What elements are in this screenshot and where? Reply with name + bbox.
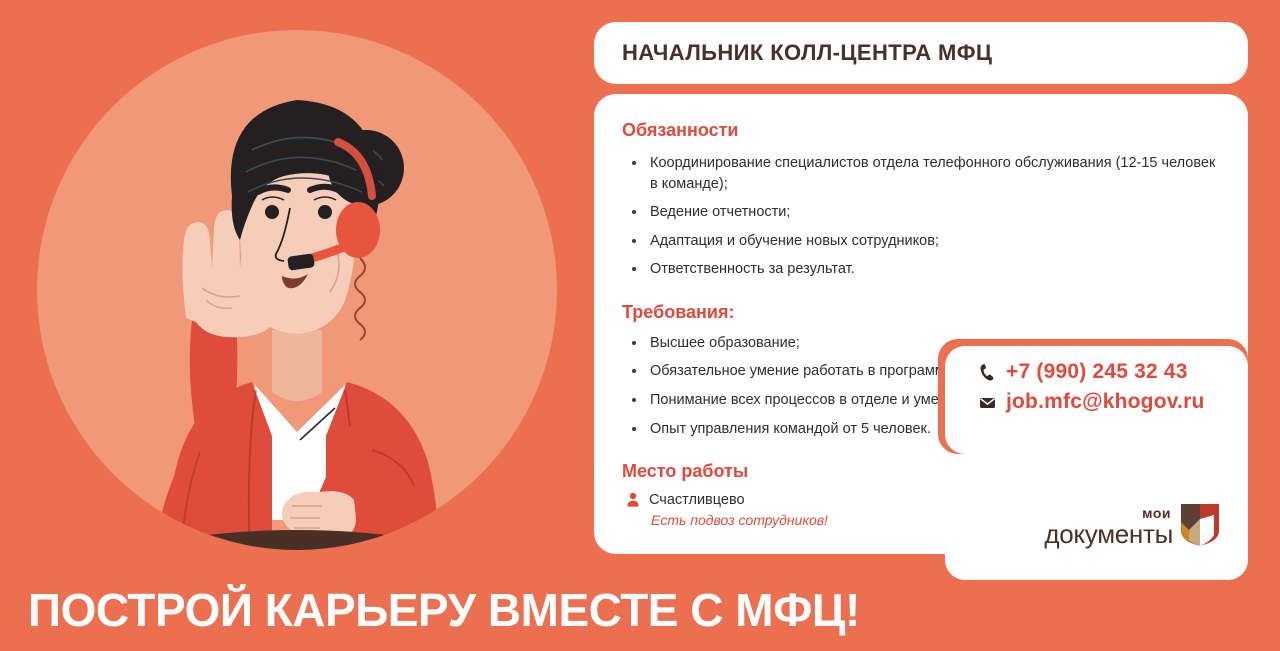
- envelope-icon: [979, 393, 996, 412]
- email-address: job.mfc@khogov.ru: [1006, 390, 1205, 414]
- list-item: Ведение отчетности;: [622, 202, 1218, 223]
- phone-icon: [979, 363, 996, 382]
- responsibilities-heading: Обязанности: [622, 120, 1218, 141]
- responsibilities-list: Координирование специалистов отдела теле…: [622, 153, 1218, 280]
- list-item: Координирование специалистов отдела теле…: [622, 153, 1218, 194]
- logo-line-top: мои: [1142, 506, 1171, 520]
- job-title-card: НАЧАЛЬНИК КОЛЛ-ЦЕНТРА МФЦ: [594, 22, 1248, 84]
- logo-wordmark: мои документы: [1044, 506, 1173, 547]
- location-name: Счастливцево: [649, 492, 745, 508]
- mfc-logo: мои документы: [1044, 503, 1220, 547]
- bottom-banner: ПОСТРОЙ КАРЬЕРУ ВМЕСТЕ С МФЦ!: [0, 569, 594, 651]
- requirements-heading: Требования:: [622, 302, 1218, 323]
- list-item: Ответственность за результат.: [622, 259, 1218, 280]
- logo-line-bottom: документы: [1044, 521, 1173, 547]
- list-item: Адаптация и обучение новых сотрудников;: [622, 231, 1218, 252]
- email-row[interactable]: job.mfc@khogov.ru: [979, 390, 1248, 414]
- content-column: НАЧАЛЬНИК КОЛЛ-ЦЕНТРА МФЦ Обязанности Ко…: [594, 0, 1280, 651]
- logo-card: мои документы: [945, 470, 1248, 580]
- page-title: НАЧАЛЬНИК КОЛЛ-ЦЕНТРА МФЦ: [622, 40, 992, 66]
- phone-number: +7 (990) 245 32 43: [1006, 360, 1188, 384]
- illustration-panel: [0, 0, 594, 651]
- phone-row[interactable]: +7 (990) 245 32 43: [979, 360, 1248, 384]
- person-pin-icon: [626, 492, 640, 508]
- contact-card: +7 (990) 245 32 43 job.mfc@khogov.ru: [945, 346, 1248, 454]
- mfc-shield-icon: [1180, 503, 1220, 547]
- call-center-operator-illustration: [0, 0, 594, 651]
